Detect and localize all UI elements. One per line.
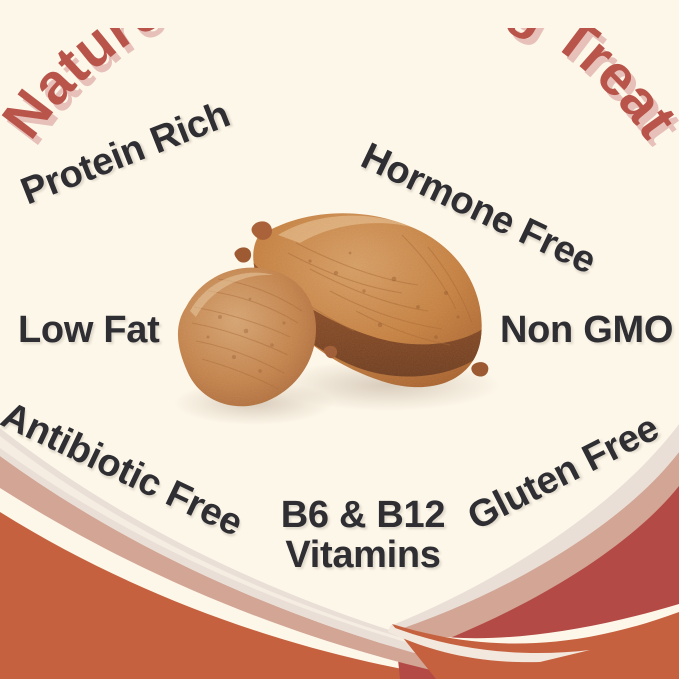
- benefit-label-low-fat: Low Fat: [18, 311, 159, 351]
- benefit-text-line2: Vitamins: [278, 536, 448, 576]
- crumb: [252, 221, 273, 239]
- benefit-text: Non GMO: [500, 309, 673, 351]
- ribbon-arrow-tip: [392, 612, 679, 679]
- crumb: [324, 346, 337, 358]
- benefit-text: Low Fat: [18, 309, 159, 351]
- benefit-text-line1: B6 & B12: [278, 496, 448, 536]
- product-infographic: Nature's Perfect Dog Treat Nature's Perf…: [0, 0, 679, 679]
- benefit-label-non-gmo: Non GMO: [500, 311, 673, 351]
- product-image: [150, 195, 530, 435]
- benefit-label-vitamins: B6 & B12 Vitamins: [278, 496, 448, 575]
- broken-dog-treat-pieces: [150, 195, 530, 435]
- ribbon-arrow-sliver: [388, 626, 590, 662]
- crumb: [234, 247, 251, 262]
